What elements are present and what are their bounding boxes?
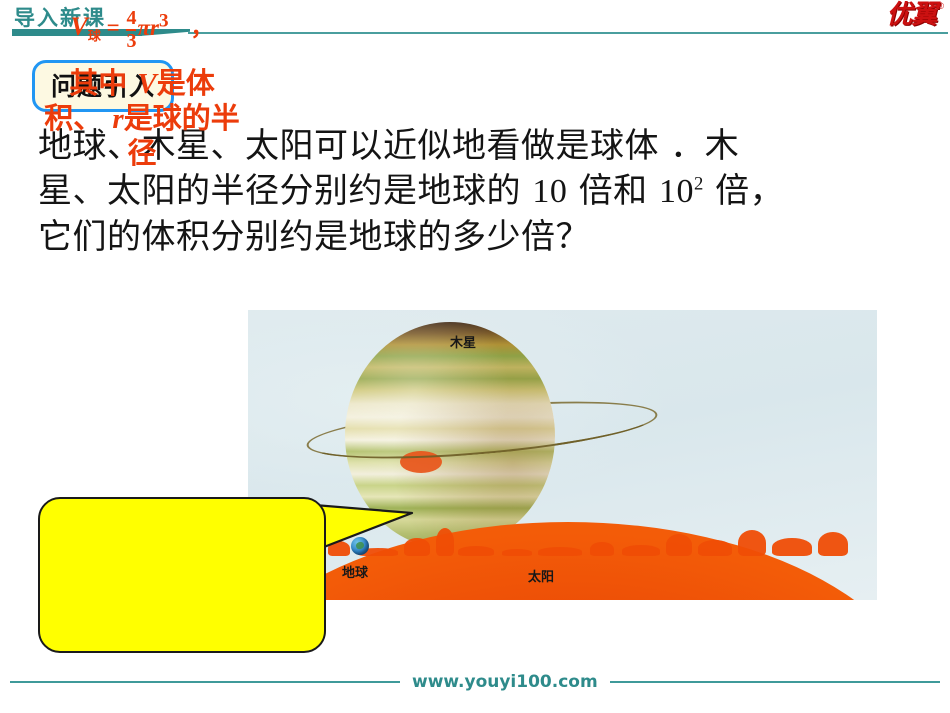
note-variable-v: V (137, 68, 156, 100)
sun-flare (436, 528, 454, 556)
note-1a: 其中 (69, 66, 137, 100)
formula-numerator: 4 (126, 8, 136, 28)
footer-rule-left (10, 681, 400, 683)
formula-note-line-1: 其中 V是体 (0, 66, 284, 101)
formula-comma: ， (191, 15, 214, 40)
formula-note-line-3: 径 (0, 136, 284, 170)
note-1b: 是体 (157, 66, 215, 100)
problem-line-2-number-2: 10 (659, 173, 694, 210)
label-jupiter: 木星 (450, 332, 476, 351)
formula-fraction: 4 3 (126, 8, 136, 51)
note-variable-r: r (112, 103, 123, 135)
formula-subscript-sphere: 球 (88, 30, 101, 45)
formula-note-line-2: 积、 r是球的半 (0, 101, 284, 136)
slide-footer: www.youyi100.com (0, 668, 950, 696)
problem-line-2-number-1: 10 (532, 173, 567, 210)
formula-radius: r (150, 15, 159, 40)
brand-logo-text: 优翼 (886, 2, 936, 28)
header-rule-thin (188, 32, 948, 34)
sun-flare (502, 549, 532, 556)
formula-exponent: 3 (159, 10, 169, 31)
sun-flare (622, 545, 660, 556)
sun-flare (738, 530, 766, 556)
sun-flare (818, 532, 848, 556)
formula-pi: π (137, 15, 150, 40)
sun-flare (590, 542, 614, 556)
registered-mark-icon: ® (937, 2, 944, 11)
formula-variable-v: V (70, 12, 87, 41)
problem-line-2-part-a: 星、太阳的半径分别约是地球的 (38, 171, 532, 211)
problem-line-2-part-b: 倍和 (567, 171, 659, 211)
formula-denominator: 3 (126, 29, 136, 51)
formula-callout (38, 497, 326, 653)
sun-flare (666, 534, 692, 556)
brand-logo: 优翼 ® (886, 2, 944, 28)
sun-flare (698, 540, 732, 556)
problem-line-2: 星、太阳的半径分别约是地球的 10 倍和 102 倍， (38, 169, 928, 215)
note-2b: 是球的半 (124, 101, 240, 135)
problem-line-2-part-c: 倍， (704, 171, 784, 211)
footer-rule-right (610, 681, 940, 683)
label-sun: 太阳 (528, 566, 554, 585)
formula-equals: = (107, 15, 120, 40)
sun-flare (772, 538, 812, 556)
sphere-volume-formula: V球 = 4 3 πr3， (0, 8, 284, 51)
note-2a: 积、 (44, 101, 112, 135)
problem-line-2-exponent: 2 (694, 174, 704, 195)
sun-flare (538, 547, 582, 556)
sun-flare (458, 546, 494, 556)
problem-line-3: 它们的体积分别约是地球的多少倍？ (38, 215, 928, 260)
formula-note: 其中 V是体 积、 r是球的半 径 (0, 66, 284, 171)
footer-url: www.youyi100.com (400, 672, 610, 692)
